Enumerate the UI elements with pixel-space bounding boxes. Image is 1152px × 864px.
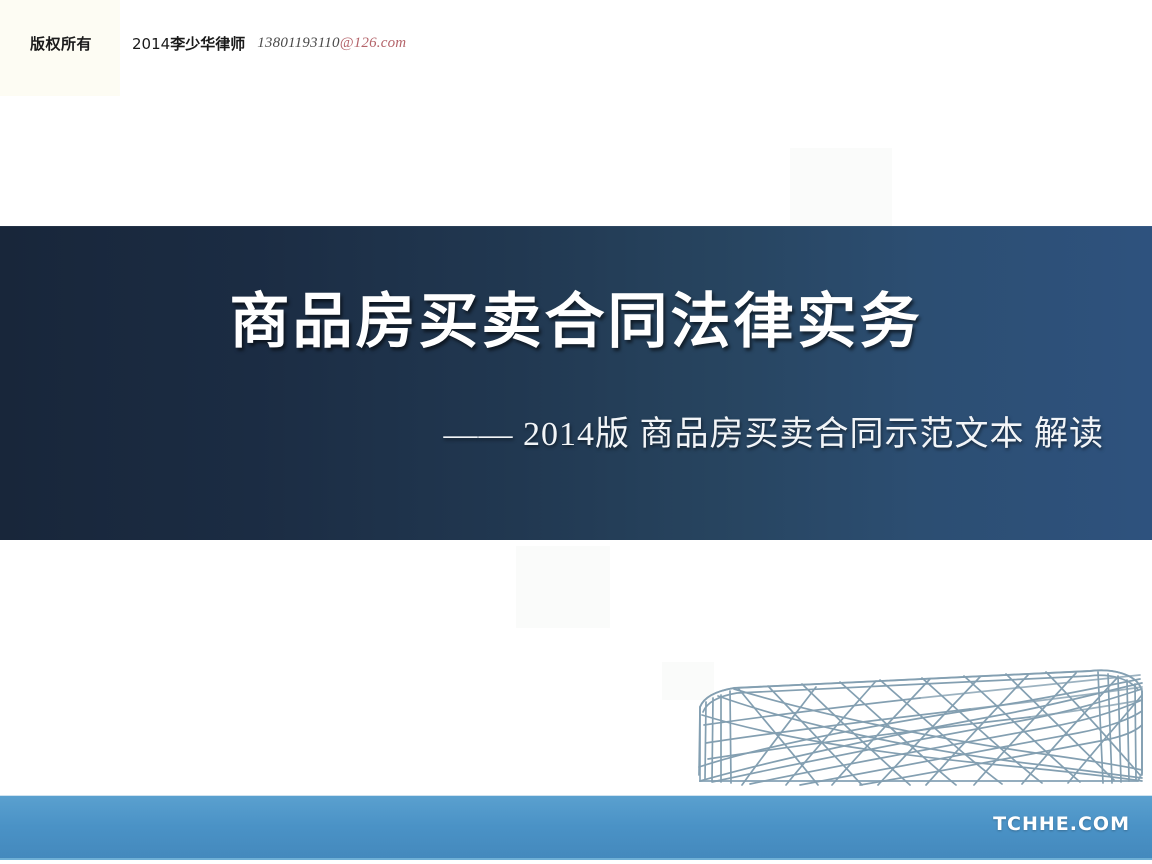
birds-nest-stadium-icon xyxy=(690,655,1152,800)
author-name: 李少华律师 xyxy=(170,35,245,53)
author-email[interactable]: 13801193110@126.com xyxy=(257,35,406,52)
title-band xyxy=(0,226,1152,540)
brand-logo-text[interactable]: TCHHE.COM xyxy=(993,813,1130,835)
page-title: 商品房买卖合同法律实务 xyxy=(0,286,1152,359)
presentation-slide: 版权所有 2014李少华律师 13801193110@126.com 商品房买卖… xyxy=(0,0,1152,864)
email-local-part: 13801193110 xyxy=(257,35,339,51)
copyright-header: 版权所有 2014李少华律师 13801193110@126.com xyxy=(0,28,1152,58)
birds-nest-stadium-svg xyxy=(690,655,1152,800)
page-subtitle: —— 2014版 商品房买卖合同示范文本 解读 xyxy=(0,413,1152,457)
email-domain-part: @126.com xyxy=(340,35,407,51)
footer-bar xyxy=(0,795,1152,860)
background-watermark-block xyxy=(516,546,610,628)
author-credit: 2014李少华律师 xyxy=(132,33,245,54)
background-watermark-block xyxy=(790,148,892,232)
copyright-label: 版权所有 xyxy=(30,33,92,54)
copyright-year: 2014 xyxy=(132,35,170,53)
